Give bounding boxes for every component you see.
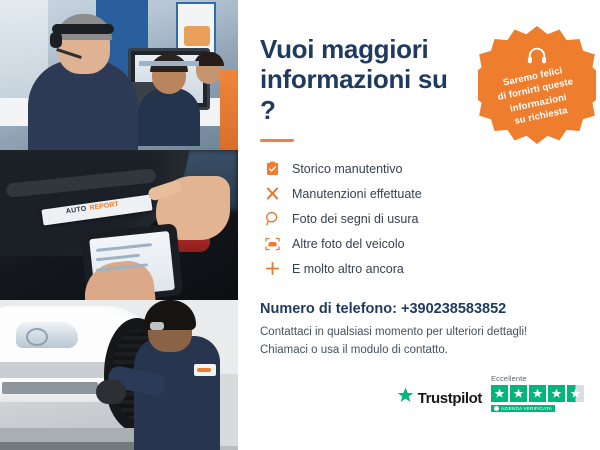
feature-list: Storico manutentivo Manutenzioni effettu… [260, 156, 578, 281]
verified-label: AZIENDA VERIFICATA [501, 406, 552, 411]
magnifier-icon [260, 211, 284, 226]
headline-line-1: Vuoi maggiori [260, 34, 428, 64]
trustpilot-stars [491, 385, 584, 402]
feature-item-more: E molto altro ancora [260, 256, 578, 281]
feature-label: E molto altro ancora [284, 262, 404, 276]
star-filled-icon [491, 385, 508, 402]
trustpilot-rating-label: Eccellente [491, 374, 527, 383]
contact-paragraph: Contattaci in qualsiasi momento per ulte… [260, 324, 578, 360]
trustpilot-rating: Eccellente AZIENDA VERIFICATA [491, 374, 584, 412]
clipboard-check-icon [260, 161, 284, 176]
trustpilot-brand: Trustpilot [418, 390, 482, 407]
star-filled-icon [510, 385, 527, 402]
star-filled-icon [548, 385, 565, 402]
page-title: Vuoi maggiori informazioni su ? [260, 34, 470, 125]
feature-item-maintenance-done: Manutenzioni effettuate [260, 181, 578, 206]
vehicle-bumper-inspection-photo: REPORT [0, 150, 238, 300]
title-divider [260, 139, 294, 142]
contact-paragraph-line-1: Contattaci in qualsiasi momento per ulte… [260, 326, 527, 338]
star-half-icon [567, 385, 584, 402]
verified-business-badge: AZIENDA VERIFICATA [491, 405, 555, 412]
feature-item-maintenance-history: Storico manutentivo [260, 156, 578, 181]
request-info-badge: Saremo felici di fornirti queste informa… [478, 26, 596, 144]
tools-cross-icon [260, 186, 284, 201]
verified-check-icon [494, 406, 499, 411]
trustpilot-widget[interactable]: Trustpilot Eccellente AZIENDA VERIFICATA [397, 374, 584, 412]
promo-panel: REPORT Vuoi maggiori informazioni su ? [0, 0, 600, 450]
feature-label: Altre foto del veicolo [284, 237, 405, 251]
feature-item-wear-photos: Foto dei segni di usura [260, 206, 578, 231]
trustpilot-star-icon [397, 387, 414, 409]
feature-label: Storico manutentivo [284, 162, 402, 176]
call-center-agents-photo [0, 0, 238, 150]
trustpilot-logo: Trustpilot [397, 387, 482, 412]
contact-paragraph-line-2: Chiamaci o usa il modulo di contatto. [260, 344, 448, 356]
car-scan-icon [260, 237, 284, 251]
plus-icon [260, 261, 284, 276]
mechanic-wheel-inspection-photo [0, 300, 238, 450]
feature-label: Manutenzioni effettuate [284, 187, 422, 201]
feature-item-vehicle-photos: Altre foto del veicolo [260, 231, 578, 256]
photo-column: REPORT [0, 0, 238, 450]
phone-number[interactable]: Numero di telefono: +390238583852 [260, 301, 578, 317]
feature-label: Foto dei segni di usura [284, 212, 418, 226]
content-panel: Vuoi maggiori informazioni su ? Saremo f… [238, 0, 600, 450]
headline-line-2: informazioni su ? [260, 64, 448, 124]
star-filled-icon [529, 385, 546, 402]
